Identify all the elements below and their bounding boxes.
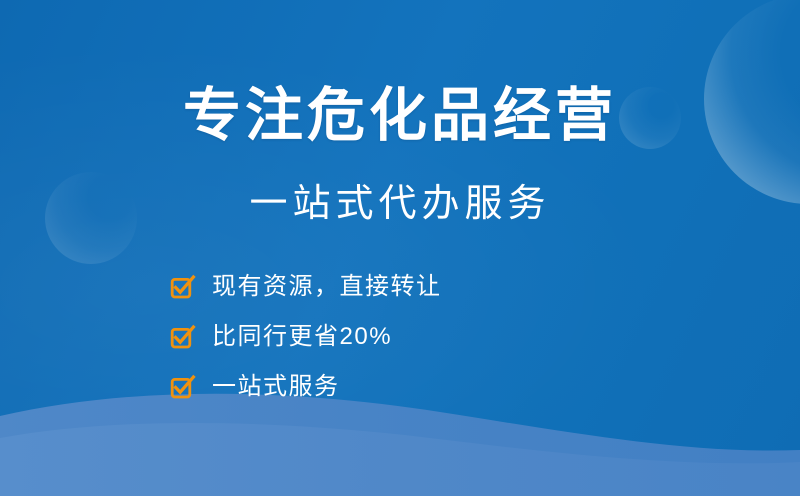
checkbox-checked-icon [170,324,196,350]
checkbox-checked-icon [170,374,196,400]
list-item-label: 比同行更省20% [212,325,392,349]
list-item: 现有资源，直接转让 [170,272,442,302]
subheadline: 一站式代办服务 [0,183,800,227]
list-item-label: 现有资源，直接转让 [212,275,442,299]
promo-banner: 专注危化品经营 一站式代办服务 现有资源，直接转让 比同行更省20% [0,0,800,496]
checkbox-checked-icon [170,274,196,300]
banner-content: 专注危化品经营 一站式代办服务 现有资源，直接转让 比同行更省20% [0,0,800,496]
feature-list: 现有资源，直接转让 比同行更省20% 一站式服务 [170,272,442,402]
headline: 专注危化品经营 [0,84,800,148]
list-item: 比同行更省20% [170,322,442,352]
list-item: 一站式服务 [170,372,442,402]
list-item-label: 一站式服务 [212,375,340,399]
